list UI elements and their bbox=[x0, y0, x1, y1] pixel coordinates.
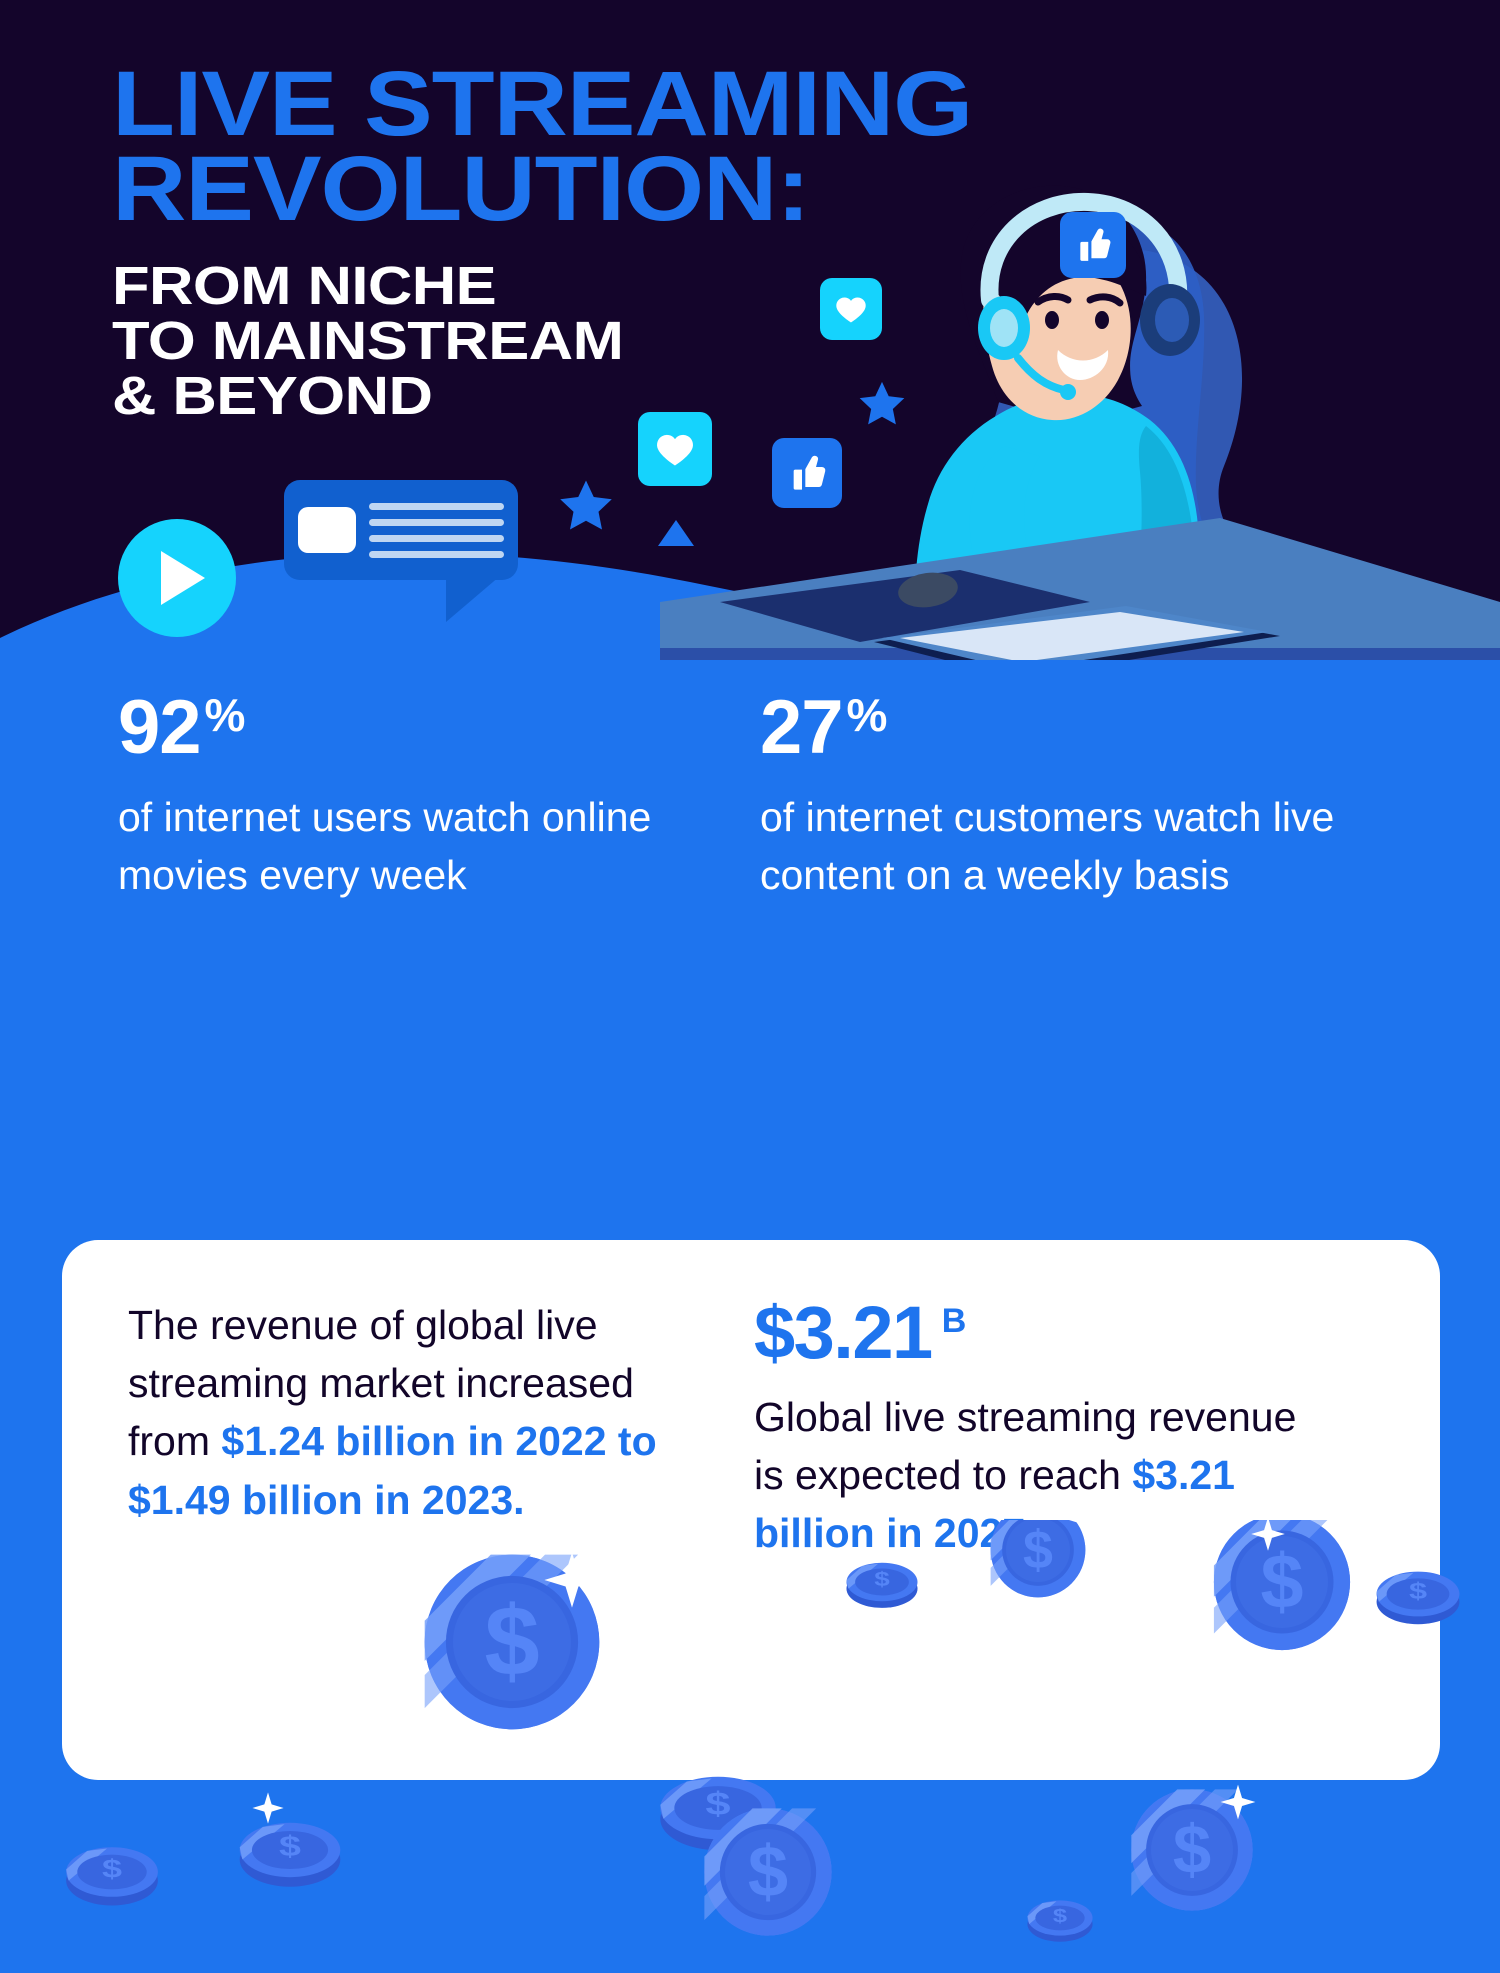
page-title-line1: LIVE STREAMING bbox=[112, 62, 972, 147]
chat-bubble-icon bbox=[284, 480, 518, 580]
star-icon bbox=[856, 378, 908, 430]
stat-number-2: 27% bbox=[760, 690, 1380, 766]
card-big-value: $3.21B bbox=[754, 1296, 1434, 1370]
play-triangle bbox=[161, 551, 205, 605]
chat-thumbnail bbox=[298, 507, 356, 553]
chat-line bbox=[369, 535, 504, 542]
card-column-left: The revenue of global live streaming mar… bbox=[62, 1296, 734, 1563]
stat-text-1: of internet users watch online movies ev… bbox=[118, 788, 680, 904]
coin bbox=[660, 1777, 775, 1850]
coin bbox=[1131, 1789, 1252, 1910]
title-block: LIVE STREAMING REVOLUTION: FROM NICHE TO… bbox=[112, 62, 880, 424]
chat-bubble-tail bbox=[446, 576, 500, 622]
infographic-root: LIVE STREAMING REVOLUTION: FROM NICHE TO… bbox=[0, 0, 1500, 1973]
card-right-paragraph: Global live streaming revenue is expecte… bbox=[754, 1388, 1314, 1563]
card-column-right: $3.21B Global live streaming revenue is … bbox=[734, 1296, 1434, 1563]
thumbs-up-icon bbox=[772, 438, 842, 508]
card-big-suffix: B bbox=[942, 1302, 967, 1340]
coin-sparkle bbox=[1221, 1785, 1256, 1820]
chat-line bbox=[369, 519, 504, 526]
coin bbox=[240, 1823, 341, 1887]
heart-icon bbox=[638, 412, 712, 486]
chat-line bbox=[369, 551, 504, 558]
stat-number-1: 92% bbox=[118, 690, 680, 766]
star-icon bbox=[556, 476, 616, 536]
stat-block-1: 92% of internet users watch online movie… bbox=[0, 690, 680, 904]
thumbs-up-icon bbox=[1060, 212, 1126, 278]
stat-text-2: of internet customers watch live content… bbox=[760, 788, 1340, 904]
page-title-line2: REVOLUTION: bbox=[112, 147, 972, 232]
coin bbox=[66, 1847, 158, 1905]
revenue-card: The revenue of global live streaming mar… bbox=[62, 1240, 1440, 1780]
card-left-paragraph: The revenue of global live streaming mar… bbox=[128, 1296, 688, 1529]
triangle-icon bbox=[656, 518, 696, 548]
coin-sparkle bbox=[252, 1792, 283, 1823]
play-icon[interactable] bbox=[118, 519, 236, 637]
heart-icon bbox=[820, 278, 882, 340]
coin bbox=[1027, 1900, 1092, 1941]
coin bbox=[704, 1808, 831, 1935]
stats-row: 92% of internet users watch online movie… bbox=[0, 690, 1500, 904]
chat-line bbox=[369, 503, 504, 510]
stat-block-2: 27% of internet customers watch live con… bbox=[680, 690, 1380, 904]
